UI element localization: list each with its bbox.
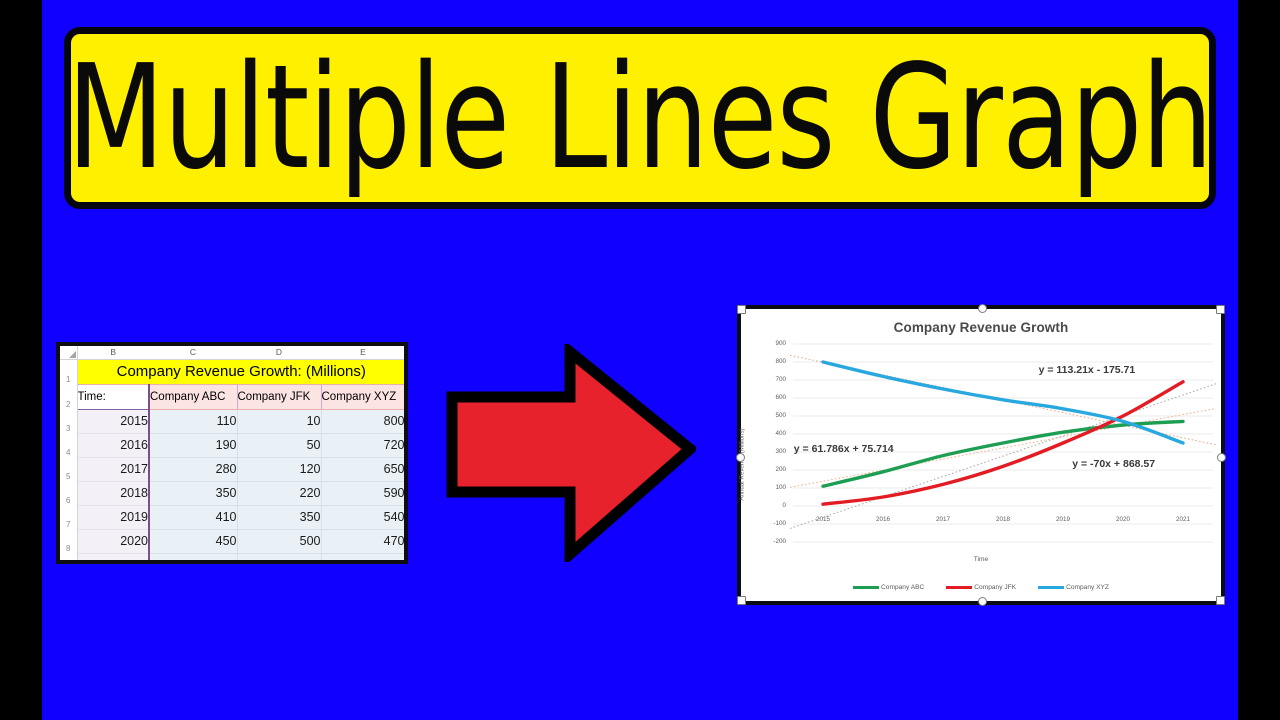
column-header-c[interactable]: C bbox=[149, 346, 237, 359]
y-tick-label: 100 bbox=[760, 484, 786, 491]
select-all-corner[interactable] bbox=[60, 346, 77, 359]
header-company-xyz[interactable]: Company XYZ bbox=[321, 384, 405, 409]
cell-abc[interactable]: 450 bbox=[149, 529, 237, 553]
resize-handle-bottom-left[interactable] bbox=[737, 596, 746, 605]
header-company-abc[interactable]: Company ABC bbox=[149, 384, 237, 409]
table-row: 3201511010800 bbox=[60, 409, 405, 433]
data-table: B C D E 1 Company Revenue Growth: (Milli… bbox=[60, 346, 406, 564]
chart-object[interactable]: Company Revenue Growth Annual Revenue (M… bbox=[737, 305, 1225, 605]
resize-handle-bottom-center[interactable] bbox=[978, 597, 987, 606]
y-tick-label: 0 bbox=[760, 502, 786, 509]
cell-xyz[interactable]: 350 bbox=[321, 553, 405, 564]
cell-year[interactable]: 2018 bbox=[77, 481, 149, 505]
cell-abc[interactable]: 410 bbox=[149, 505, 237, 529]
row-header-2[interactable]: 2 bbox=[60, 384, 77, 409]
cell-abc[interactable]: 280 bbox=[149, 457, 237, 481]
right-arrow bbox=[446, 344, 696, 562]
y-tick-label: 400 bbox=[760, 430, 786, 437]
legend-item[interactable]: Company ABC bbox=[853, 584, 924, 591]
column-header-e[interactable]: E bbox=[321, 346, 405, 359]
y-tick-label: 900 bbox=[760, 340, 786, 347]
x-tick-label: 2019 bbox=[1048, 516, 1078, 523]
chart-legend[interactable]: Company ABCCompany JFKCompany XYZ bbox=[741, 584, 1221, 591]
row-header-8[interactable]: 8 bbox=[60, 529, 77, 553]
cell-jfk[interactable]: 500 bbox=[237, 529, 321, 553]
table-row: 72019410350540 bbox=[60, 505, 405, 529]
row-header-9[interactable]: 9 bbox=[60, 553, 77, 564]
cell-year[interactable]: 2015 bbox=[77, 409, 149, 433]
page-title: Multiple Lines Graph bbox=[67, 45, 1212, 189]
x-tick-label: 2020 bbox=[1108, 516, 1138, 523]
legend-label: Company XYZ bbox=[1066, 584, 1109, 591]
legend-item[interactable]: Company XYZ bbox=[1038, 584, 1109, 591]
header-time[interactable]: Time: bbox=[77, 384, 149, 409]
column-header-row: B C D E bbox=[60, 346, 405, 359]
table-banner-title[interactable]: Company Revenue Growth: (Millions) bbox=[77, 359, 405, 384]
trendline-equation-label[interactable]: y = 61.786x + 75.714 bbox=[794, 443, 894, 455]
column-header-d[interactable]: D bbox=[237, 346, 321, 359]
cell-year[interactable]: 2017 bbox=[77, 457, 149, 481]
resize-handle-top-center[interactable] bbox=[978, 304, 987, 313]
cell-xyz[interactable]: 540 bbox=[321, 505, 405, 529]
cell-xyz[interactable]: 720 bbox=[321, 433, 405, 457]
legend-swatch bbox=[1038, 586, 1064, 589]
x-tick-label: 2015 bbox=[808, 516, 838, 523]
cell-year[interactable]: 2016 bbox=[77, 433, 149, 457]
cell-abc[interactable]: 190 bbox=[149, 433, 237, 457]
table-header-row: 2 Time: Company ABC Company JFK Company … bbox=[60, 384, 405, 409]
trendline-equation-label[interactable]: y = -70x + 868.57 bbox=[1072, 458, 1155, 470]
cell-abc[interactable]: 110 bbox=[149, 409, 237, 433]
y-tick-label: 500 bbox=[760, 412, 786, 419]
trendline-equation-label[interactable]: y = 113.21x - 175.71 bbox=[1039, 364, 1136, 376]
table-row: 52017280120650 bbox=[60, 457, 405, 481]
x-tick-label: 2018 bbox=[988, 516, 1018, 523]
cell-jfk[interactable]: 690 bbox=[237, 553, 321, 564]
cell-year[interactable]: 2019 bbox=[77, 505, 149, 529]
spreadsheet-panel: B C D E 1 Company Revenue Growth: (Milli… bbox=[56, 342, 408, 564]
cell-jfk[interactable]: 10 bbox=[237, 409, 321, 433]
resize-handle-bottom-right[interactable] bbox=[1216, 596, 1225, 605]
header-company-jfk[interactable]: Company JFK bbox=[237, 384, 321, 409]
legend-swatch bbox=[853, 586, 879, 589]
series-lines bbox=[823, 362, 1183, 504]
row-header-3[interactable]: 3 bbox=[60, 409, 77, 433]
x-tick-label: 2016 bbox=[868, 516, 898, 523]
table-row: 92021470690350 bbox=[60, 553, 405, 564]
y-tick-label: 800 bbox=[760, 358, 786, 365]
table-row: 62018350220590 bbox=[60, 481, 405, 505]
y-tick-label: -200 bbox=[760, 538, 786, 545]
cell-xyz[interactable]: 590 bbox=[321, 481, 405, 505]
resize-handle-top-left[interactable] bbox=[737, 305, 746, 314]
y-tick-label: -100 bbox=[760, 520, 786, 527]
cell-jfk[interactable]: 120 bbox=[237, 457, 321, 481]
cell-jfk[interactable]: 350 bbox=[237, 505, 321, 529]
y-tick-label: 200 bbox=[760, 466, 786, 473]
cell-xyz[interactable]: 800 bbox=[321, 409, 405, 433]
resize-handle-top-right[interactable] bbox=[1216, 305, 1225, 314]
resize-handle-middle-left[interactable] bbox=[736, 453, 745, 462]
table-row: 4201619050720 bbox=[60, 433, 405, 457]
cell-jfk[interactable]: 220 bbox=[237, 481, 321, 505]
legend-swatch bbox=[946, 586, 972, 589]
slide-canvas: Multiple Lines Graph B C D E 1 Company R… bbox=[0, 0, 1280, 720]
row-header-7[interactable]: 7 bbox=[60, 505, 77, 529]
banner-row: 1 Company Revenue Growth: (Millions) bbox=[60, 359, 405, 384]
cell-jfk[interactable]: 50 bbox=[237, 433, 321, 457]
row-header-4[interactable]: 4 bbox=[60, 433, 77, 457]
title-banner: Multiple Lines Graph bbox=[64, 27, 1216, 209]
y-tick-label: 300 bbox=[760, 448, 786, 455]
column-header-b[interactable]: B bbox=[77, 346, 149, 359]
x-tick-label: 2017 bbox=[928, 516, 958, 523]
right-arrow-icon bbox=[446, 344, 696, 562]
x-tick-label: 2021 bbox=[1168, 516, 1198, 523]
y-tick-label: 600 bbox=[760, 394, 786, 401]
cell-abc[interactable]: 350 bbox=[149, 481, 237, 505]
row-header-6[interactable]: 6 bbox=[60, 481, 77, 505]
legend-label: Company JFK bbox=[974, 584, 1016, 591]
cell-abc[interactable]: 470 bbox=[149, 553, 237, 564]
resize-handle-middle-right[interactable] bbox=[1217, 453, 1226, 462]
cell-xyz[interactable]: 470 bbox=[321, 529, 405, 553]
table-row: 82020450500470 bbox=[60, 529, 405, 553]
legend-label: Company ABC bbox=[881, 584, 924, 591]
chart-plot-container: Company Revenue Growth Annual Revenue (M… bbox=[741, 309, 1221, 601]
y-tick-label: 700 bbox=[760, 376, 786, 383]
legend-item[interactable]: Company JFK bbox=[946, 584, 1016, 591]
cell-year[interactable]: 2021 bbox=[77, 553, 149, 564]
cell-year[interactable]: 2020 bbox=[77, 529, 149, 553]
cell-xyz[interactable]: 650 bbox=[321, 457, 405, 481]
row-header-1[interactable]: 1 bbox=[60, 359, 77, 384]
row-header-5[interactable]: 5 bbox=[60, 457, 77, 481]
